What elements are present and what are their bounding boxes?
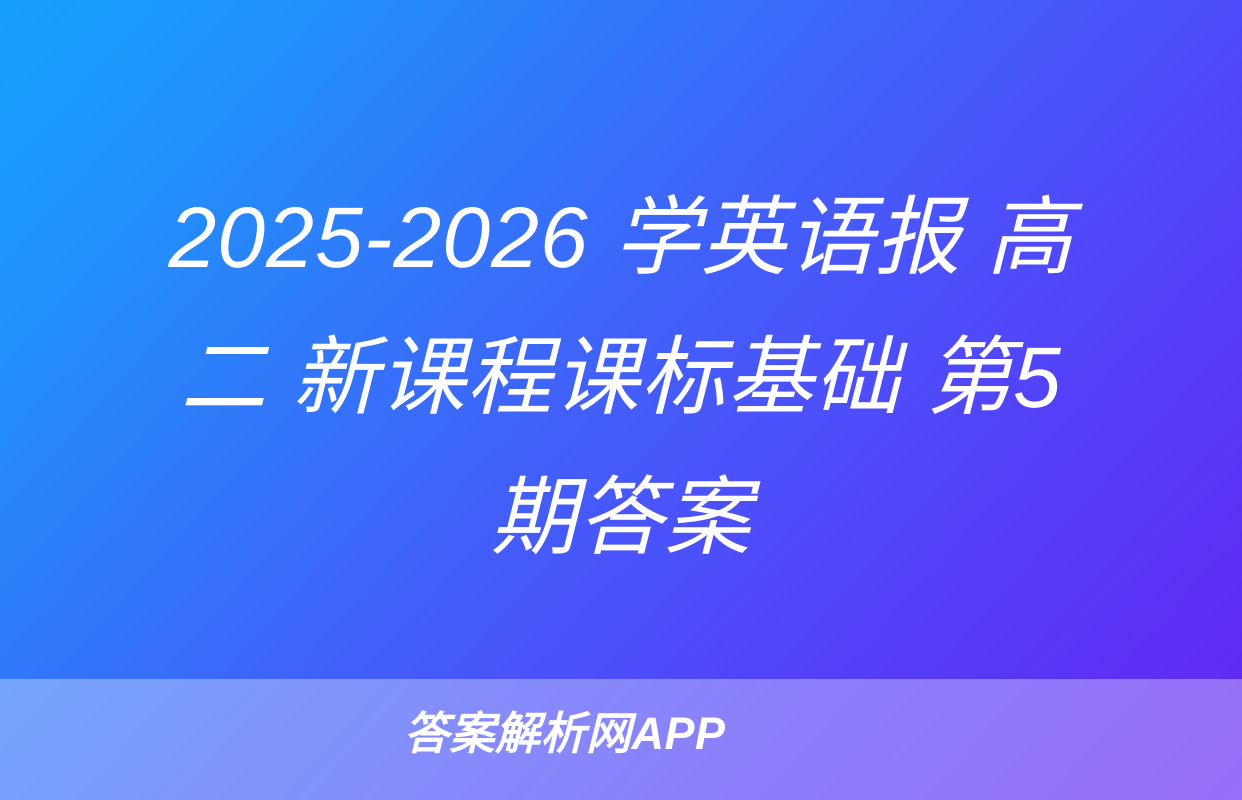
answer-title-card: 2025-2026 学英语报 高 二 新课程课标基础 第5 期答案 答案解析网A… [0, 0, 1242, 800]
app-brand-label: 答案解析网APP [404, 706, 726, 762]
page-title: 2025-2026 学英语报 高 二 新课程课标基础 第5 期答案 [0, 168, 1242, 588]
